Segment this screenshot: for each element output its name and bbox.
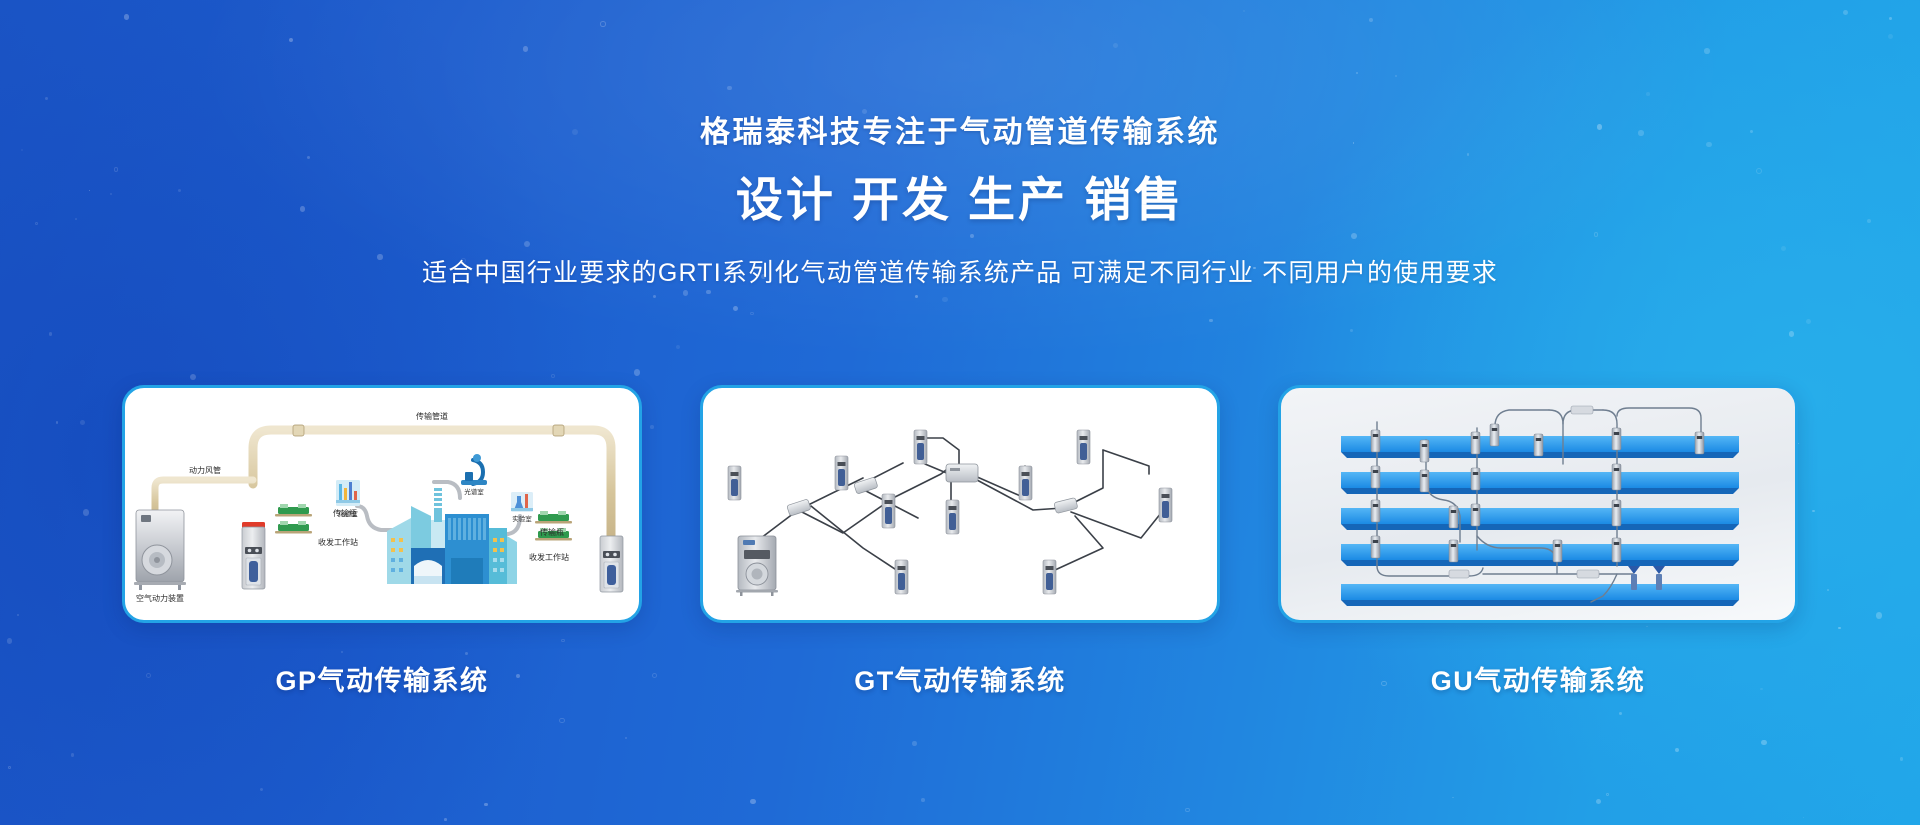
- hero-eyebrow: 格瑞泰科技专注于气动管道传输系统: [0, 118, 1920, 148]
- background-dot: [444, 818, 447, 821]
- background-dot: [1806, 319, 1811, 324]
- card-gt-caption: GT气动传输系统: [700, 668, 1220, 695]
- card-gu-illustration: [1281, 388, 1795, 620]
- background-dot: [49, 332, 53, 336]
- hero-text-block: 格瑞泰科技专注于气动管道传输系统 设计 开发 生产 销售 适合中国行业要求的GR…: [0, 0, 1920, 286]
- spectroscopy-icon: [461, 454, 487, 485]
- background-dot: [653, 295, 657, 299]
- card-gp-caption: GP气动传输系统: [122, 668, 642, 695]
- gt-topology-svg: [703, 388, 1217, 620]
- hero-title: 设计 开发 生产 销售: [0, 176, 1920, 223]
- background-dot: [1452, 797, 1454, 799]
- background-dot: [1789, 331, 1795, 337]
- building-floor-slabs: [1341, 436, 1739, 606]
- background-dot: [71, 753, 74, 756]
- label-transport-pipe: 传输管道: [416, 411, 448, 421]
- background-dot: [260, 788, 263, 791]
- chem-lab-icon: [336, 480, 360, 506]
- card-gu-frame[interactable]: [1278, 385, 1798, 623]
- background-dot: [733, 306, 739, 312]
- background-dot: [1350, 329, 1353, 332]
- workstation-left: [242, 522, 265, 589]
- background-dot: [1606, 793, 1608, 795]
- background-dot: [484, 803, 488, 807]
- background-dot: [1675, 748, 1679, 752]
- background-dot: [915, 295, 918, 298]
- gt-air-power-unit: [736, 536, 778, 596]
- background-dot: [750, 312, 754, 316]
- product-card-gu[interactable]: GU气动传输系统: [1278, 385, 1798, 695]
- card-gt-illustration: [703, 388, 1217, 620]
- label-power-duct: 动力风管: [189, 465, 221, 475]
- background-dot: [1596, 799, 1601, 804]
- background-dot: [559, 718, 564, 723]
- background-dot: [912, 741, 916, 745]
- carrier-bottles-left: [275, 504, 312, 534]
- background-dot: [1900, 757, 1904, 761]
- background-dot: [1185, 808, 1189, 812]
- card-gt-frame[interactable]: [700, 385, 1220, 623]
- background-dot: [750, 799, 756, 805]
- product-card-gp[interactable]: 传输管道 动力风管 空气动力装置: [122, 385, 642, 695]
- background-dot: [1209, 319, 1213, 323]
- central-hub: [946, 464, 978, 482]
- background-dot: [921, 798, 925, 802]
- hero-subtitle: 适合中国行业要求的GRTI系列化气动管道传输系统产品 可满足不同行业 不同用户的…: [0, 261, 1920, 286]
- background-dot: [942, 297, 947, 302]
- gu-building-svg: [1281, 388, 1795, 620]
- background-dot: [190, 374, 196, 380]
- background-dot: [8, 766, 11, 769]
- label-spectroscopy-room: 光谱室: [464, 487, 484, 496]
- product-card-gt[interactable]: GT气动传输系统: [700, 385, 1220, 695]
- product-card-row: 传输管道 动力风管 空气动力装置: [0, 385, 1920, 695]
- background-dot: [551, 374, 555, 378]
- background-dot: [683, 290, 689, 296]
- gp-schematic-svg: 传输管道 动力风管 空气动力装置: [125, 388, 639, 620]
- lab-room-icon: [511, 492, 533, 512]
- background-dot: [706, 290, 710, 294]
- background-dot: [634, 369, 640, 375]
- label-air-power-unit: 空气动力装置: [136, 593, 184, 603]
- air-power-unit: [134, 510, 186, 590]
- label-chem-lab: 化验室: [338, 509, 358, 518]
- topology-tubing: [761, 438, 1165, 573]
- background-dot: [1761, 740, 1767, 746]
- label-workstation-left: 收发工作站: [318, 537, 358, 547]
- background-dot: [625, 737, 627, 739]
- card-gp-frame[interactable]: 传输管道 动力风管 空气动力装置: [122, 385, 642, 623]
- label-carrier-bottle-right: 传输瓶: [540, 527, 564, 537]
- facility-building: [387, 488, 517, 584]
- background-dot: [1803, 817, 1804, 818]
- workstation-right: [600, 536, 623, 592]
- background-dot: [1619, 712, 1622, 715]
- background-dot: [676, 345, 680, 349]
- label-workstation-right: 收发工作站: [529, 552, 569, 562]
- card-gu-caption: GU气动传输系统: [1278, 668, 1798, 695]
- card-gp-illustration: 传输管道 动力风管 空气动力装置: [125, 388, 639, 620]
- label-lab-room: 实验室: [512, 514, 532, 523]
